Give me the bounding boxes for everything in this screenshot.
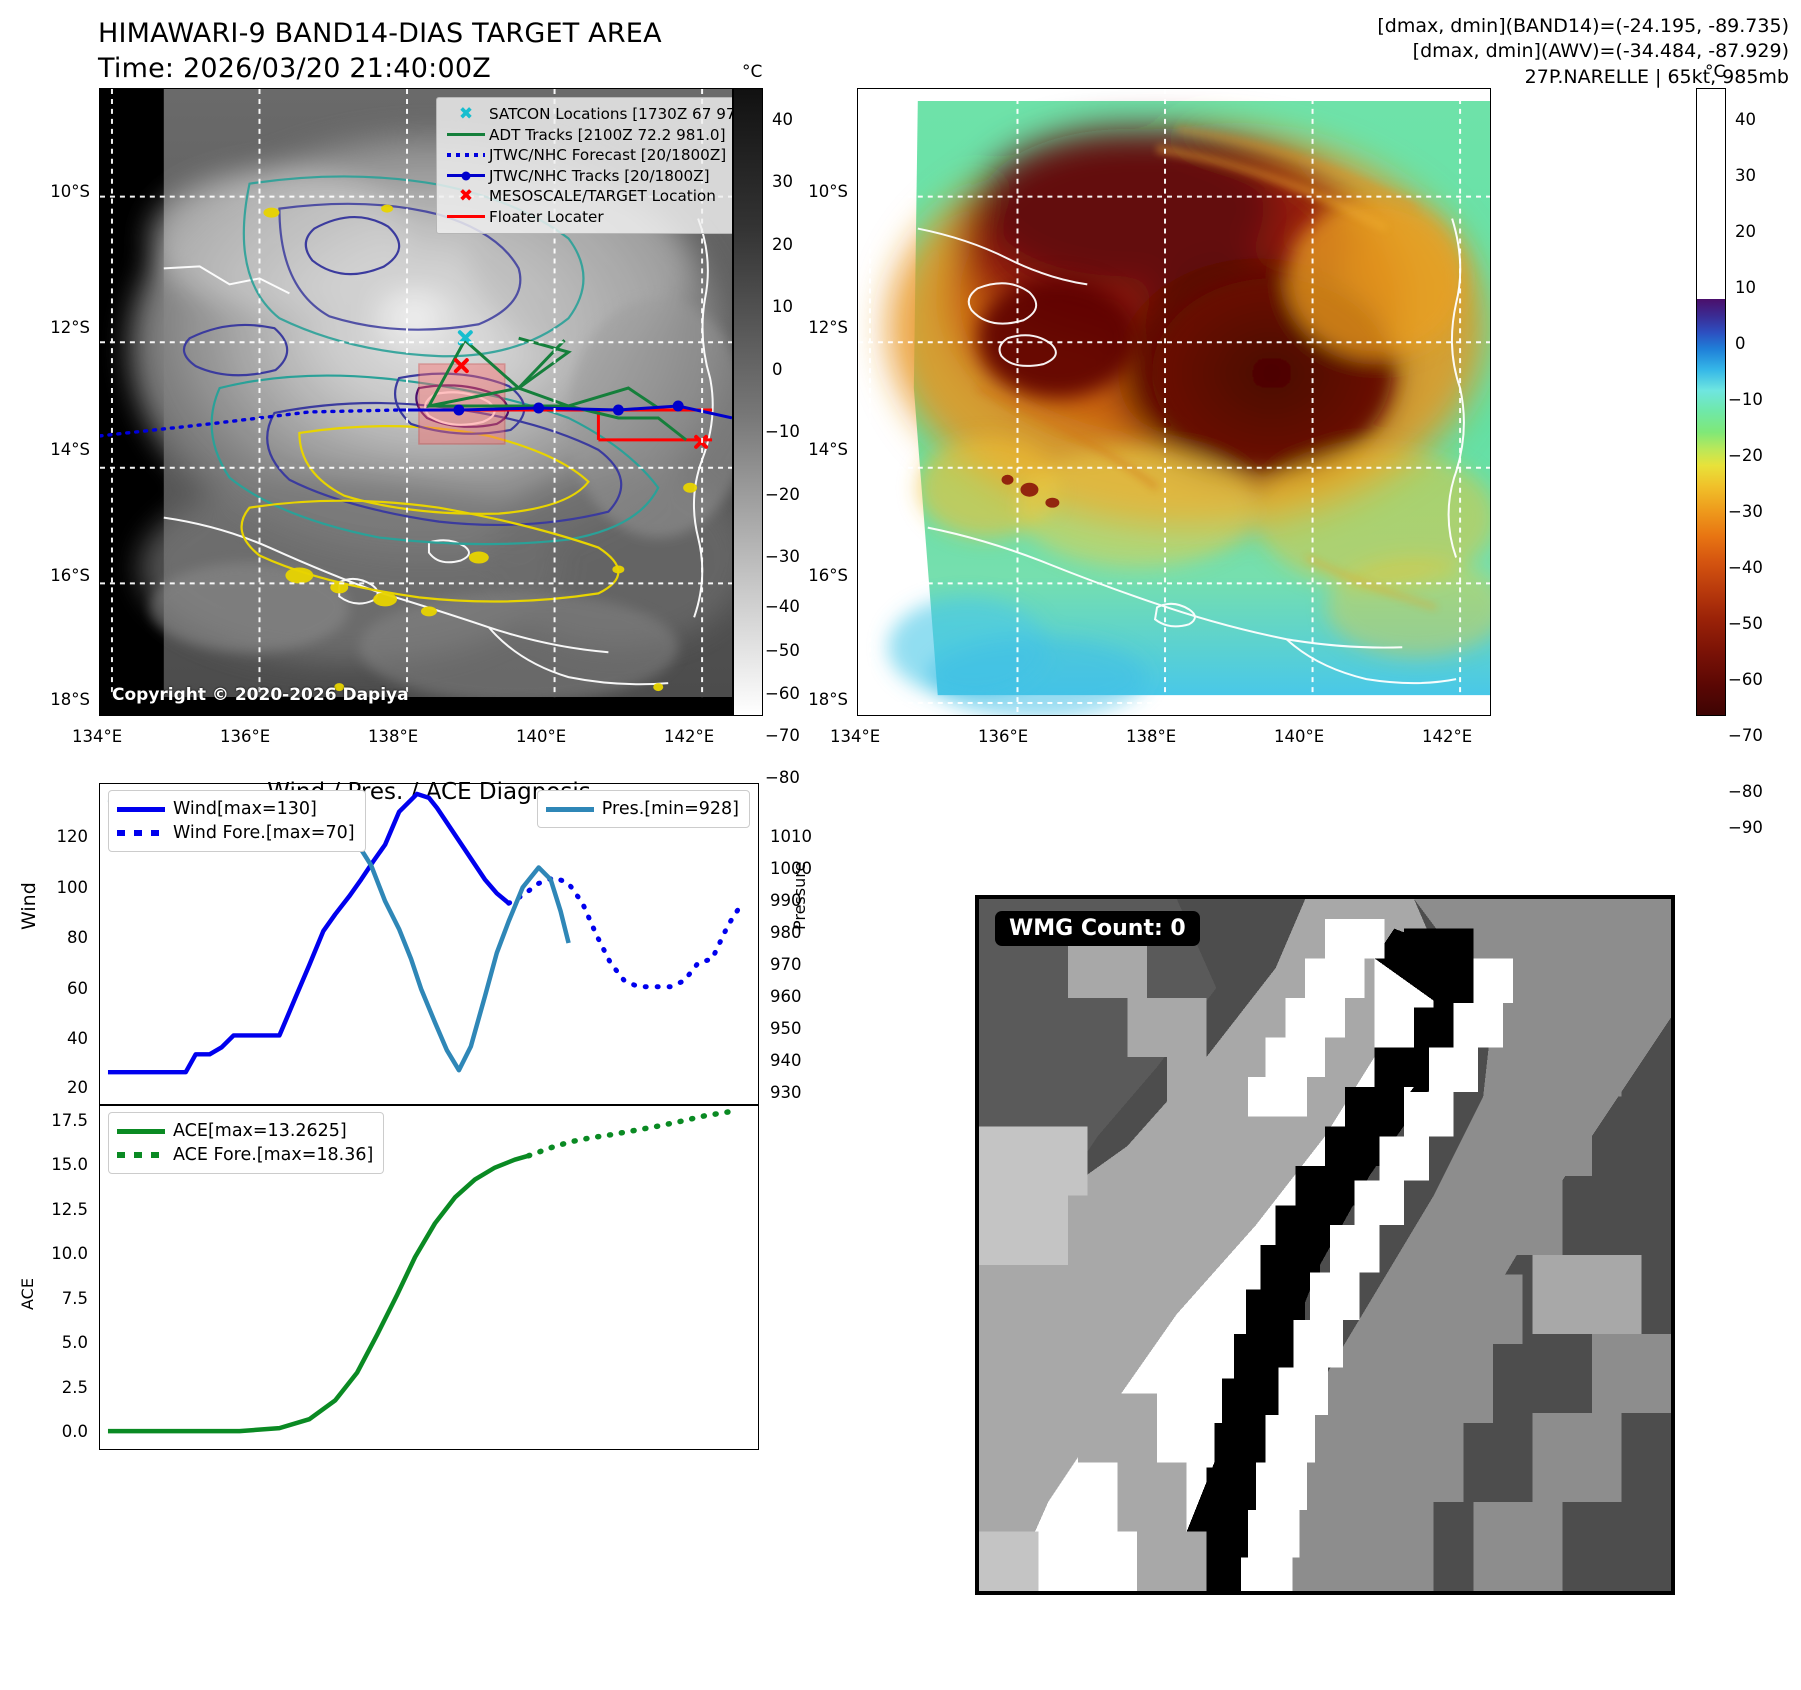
p3-y2tick: 970 xyxy=(770,955,802,974)
p1-cbtick: 40 xyxy=(772,110,793,129)
dotted-line-icon xyxy=(117,830,173,836)
legend-label: Wind[max=130] xyxy=(173,799,317,819)
p1-colorbar xyxy=(733,88,763,716)
p1-cbtick: −80 xyxy=(765,768,800,787)
p1-ytick: 18°S xyxy=(28,690,90,709)
legend-item-mesoscale[interactable]: ✖ MESOSCALE/TARGET Location xyxy=(443,186,727,207)
p1-cbtick: −30 xyxy=(765,547,800,566)
x-marker-icon: ✖ xyxy=(443,188,489,205)
p4-ytick: 7.5 xyxy=(16,1289,88,1308)
p4-ytick: 12.5 xyxy=(16,1200,88,1219)
ir-map-legend: ✖ SATCON Locations [1730Z 67 975] ADT Tr… xyxy=(436,97,733,234)
p3-y2tick: 950 xyxy=(770,1019,802,1038)
legend-item-wind[interactable]: Wind[max=130] xyxy=(117,797,355,821)
p2-cbtick: 40 xyxy=(1735,110,1756,129)
p1-cbtick: 10 xyxy=(772,297,793,316)
page-title: HIMAWARI-9 BAND14-DIAS TARGET AREA Time:… xyxy=(98,16,662,86)
p2-xtick: 140°E xyxy=(1274,727,1324,746)
line-icon xyxy=(443,215,489,218)
dotted-line-icon xyxy=(117,1152,173,1158)
pressure-legend: Pres.[min=928] xyxy=(537,790,750,828)
p4-ytick: 0.0 xyxy=(16,1422,88,1441)
p2-colorbar xyxy=(1696,88,1726,716)
p3-ytick: 40 xyxy=(22,1029,88,1048)
dmax-band14: [dmax, dmin](BAND14)=(-24.195, -89.735) xyxy=(1377,14,1789,39)
p2-cbtick: 10 xyxy=(1735,278,1756,297)
ir-color-panel[interactable] xyxy=(857,88,1491,716)
p1-ytick: 12°S xyxy=(28,318,90,337)
p2-cbtick: −90 xyxy=(1728,818,1763,837)
ir-grey-panel[interactable]: ✖ SATCON Locations [1730Z 67 975] ADT Tr… xyxy=(99,88,733,716)
legend-item-jtwc-tracks[interactable]: JTWC/NHC Tracks [20/1800Z] xyxy=(443,166,727,187)
p3-y2tick: 930 xyxy=(770,1083,802,1102)
p2-cbtick: 0 xyxy=(1735,334,1746,353)
p1-cbtick: −20 xyxy=(765,485,800,504)
legend-label: JTWC/NHC Tracks [20/1800Z] xyxy=(489,167,710,185)
wind-pressure-chart[interactable]: Wind[max=130] Wind Fore.[max=70] Pres.[m… xyxy=(99,783,759,1105)
p3-y2tick: 980 xyxy=(770,923,802,942)
legend-item-satcon[interactable]: ✖ SATCON Locations [1730Z 67 975] xyxy=(443,104,727,125)
wind-legend: Wind[max=130] Wind Fore.[max=70] xyxy=(108,790,366,852)
p1-cbtick: 0 xyxy=(772,360,783,379)
p2-cbtick: −30 xyxy=(1728,502,1763,521)
p4-ytick: 10.0 xyxy=(16,1244,88,1263)
p2-cbtick: −80 xyxy=(1728,782,1763,801)
legend-item-floater[interactable]: Floater Locater xyxy=(443,207,727,228)
p2-ytick: 10°S xyxy=(786,182,848,201)
dmax-awv: [dmax, dmin](AWV)=(-34.484, -87.929) xyxy=(1377,39,1789,64)
p2-cbtick: 20 xyxy=(1735,222,1756,241)
legend-item-ace[interactable]: ACE[max=13.2625] xyxy=(117,1119,373,1143)
legend-label: SATCON Locations [1730Z 67 975] xyxy=(489,105,733,123)
p4-ytick: 2.5 xyxy=(16,1378,88,1397)
p1-xtick: 140°E xyxy=(516,727,566,746)
legend-item-wind-forecast[interactable]: Wind Fore.[max=70] xyxy=(117,821,355,845)
p3-y2tick: 1010 xyxy=(770,827,812,846)
p1-cbtick: −10 xyxy=(765,422,800,441)
p2-ytick: 12°S xyxy=(786,318,848,337)
ir-color-image xyxy=(858,89,1490,715)
p4-ytick: 17.5 xyxy=(16,1111,88,1130)
p3-ytick: 20 xyxy=(22,1078,88,1097)
copyright-notice: Copyright © 2020-2026 Dapiya xyxy=(112,685,409,705)
ace-legend: ACE[max=13.2625] ACE Fore.[max=18.36] xyxy=(108,1112,384,1174)
p2-cbtick: −10 xyxy=(1728,390,1763,409)
p3-y2tick: 940 xyxy=(770,1051,802,1070)
legend-label: Floater Locater xyxy=(489,208,604,226)
p2-ytick: 16°S xyxy=(786,566,848,585)
p2-colorbar-unit: °C xyxy=(1705,62,1725,82)
p1-cbtick: −70 xyxy=(765,726,800,745)
legend-label: ADT Tracks [2100Z 72.2 981.0] xyxy=(489,126,726,144)
p1-colorbar-unit: °C xyxy=(742,62,762,82)
p2-xtick: 136°E xyxy=(978,727,1028,746)
solid-line-icon xyxy=(546,807,602,812)
dmax-info-block: [dmax, dmin](BAND14)=(-24.195, -89.735) … xyxy=(1377,14,1789,90)
p1-cbtick: 20 xyxy=(772,235,793,254)
p1-xtick: 136°E xyxy=(220,727,270,746)
p3-ytick: 60 xyxy=(22,979,88,998)
p1-cbtick: −40 xyxy=(765,597,800,616)
p4-ytick: 5.0 xyxy=(16,1333,88,1352)
solid-line-icon xyxy=(117,807,173,812)
p2-cbtick: −40 xyxy=(1728,558,1763,577)
legend-label: Pres.[min=928] xyxy=(602,799,739,819)
p3-y2tick: 990 xyxy=(770,891,802,910)
legend-item-pressure[interactable]: Pres.[min=928] xyxy=(546,797,739,821)
p2-cbtick: −50 xyxy=(1728,614,1763,633)
legend-item-adt-tracks[interactable]: ADT Tracks [2100Z 72.2 981.0] xyxy=(443,125,727,146)
p1-xtick: 142°E xyxy=(664,727,714,746)
legend-item-jtwc-forecast[interactable]: JTWC/NHC Forecast [20/1800Z] xyxy=(443,145,727,166)
p2-xtick: 134°E xyxy=(830,727,880,746)
p2-xtick: 142°E xyxy=(1422,727,1472,746)
x-marker-icon: ✖ xyxy=(443,106,489,123)
p1-xtick: 134°E xyxy=(72,727,122,746)
wmg-panel[interactable]: WMG Count: 0 xyxy=(975,895,1675,1595)
product-title: HIMAWARI-9 BAND14-DIAS TARGET AREA xyxy=(98,16,662,51)
p2-cbtick: −70 xyxy=(1728,726,1763,745)
legend-item-ace-forecast[interactable]: ACE Fore.[max=18.36] xyxy=(117,1143,373,1167)
legend-label: ACE Fore.[max=18.36] xyxy=(173,1145,373,1165)
p2-cbtick: −60 xyxy=(1728,670,1763,689)
line-with-dot-icon xyxy=(443,174,489,177)
p2-cbtick: 30 xyxy=(1735,166,1756,185)
p3-y2tick: 960 xyxy=(770,987,802,1006)
p1-ytick: 14°S xyxy=(28,440,90,459)
p3-ytick: 100 xyxy=(22,878,88,897)
dotted-line-icon xyxy=(443,153,489,157)
storm-info: 27P.NARELLE | 65kt, 985mb xyxy=(1377,65,1789,90)
p2-ytick: 18°S xyxy=(786,690,848,709)
p1-ytick: 16°S xyxy=(28,566,90,585)
legend-label: JTWC/NHC Forecast [20/1800Z] xyxy=(489,146,726,164)
line-icon xyxy=(443,133,489,136)
p1-cbtick: −50 xyxy=(765,641,800,660)
ace-chart[interactable]: ACE[max=13.2625] ACE Fore.[max=18.36] xyxy=(99,1105,759,1450)
legend-label: Wind Fore.[max=70] xyxy=(173,823,355,843)
wmg-image xyxy=(979,899,1671,1591)
solid-line-icon xyxy=(117,1129,173,1134)
p4-ytick: 15.0 xyxy=(16,1155,88,1174)
p2-xtick: 138°E xyxy=(1126,727,1176,746)
legend-label: ACE[max=13.2625] xyxy=(173,1121,347,1141)
product-time: Time: 2026/03/20 21:40:00Z xyxy=(98,51,662,86)
p1-ytick: 10°S xyxy=(28,182,90,201)
p2-ytick: 14°S xyxy=(786,440,848,459)
legend-label: MESOSCALE/TARGET Location xyxy=(489,187,716,205)
p3-ytick: 120 xyxy=(22,827,88,846)
wmg-count-badge: WMG Count: 0 xyxy=(995,911,1200,946)
p2-cbtick: −20 xyxy=(1728,446,1763,465)
p3-y2tick: 1000 xyxy=(770,859,812,878)
p3-ytick: 80 xyxy=(22,928,88,947)
p1-xtick: 138°E xyxy=(368,727,418,746)
